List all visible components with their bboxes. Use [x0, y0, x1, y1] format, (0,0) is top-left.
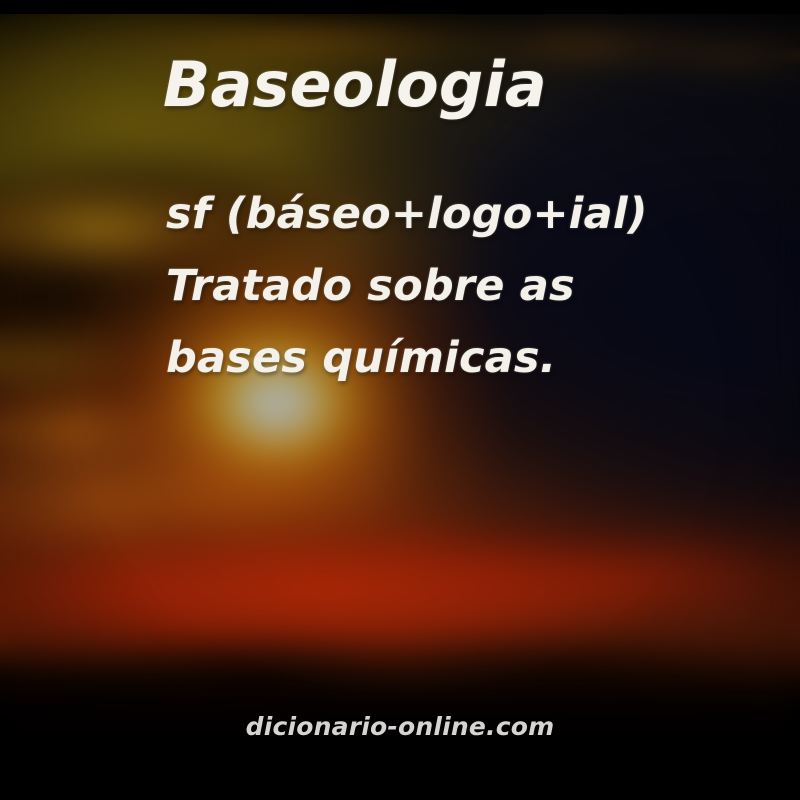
top-black-bar [0, 0, 800, 14]
site-watermark: dicionario-online.com [0, 712, 800, 741]
definition-block: sf (báseo+logo+ial) Tratado sobre as bas… [166, 178, 686, 394]
definition-line-etymology: sf (báseo+logo+ial) [166, 178, 686, 250]
definition-line-meaning-1: Tratado sobre as [166, 250, 686, 322]
dictionary-entry-card: Baseologia sf (báseo+logo+ial) Tratado s… [0, 0, 800, 800]
definition-line-meaning-2: bases químicas. [166, 322, 686, 394]
page-title: Baseologia [163, 54, 547, 116]
